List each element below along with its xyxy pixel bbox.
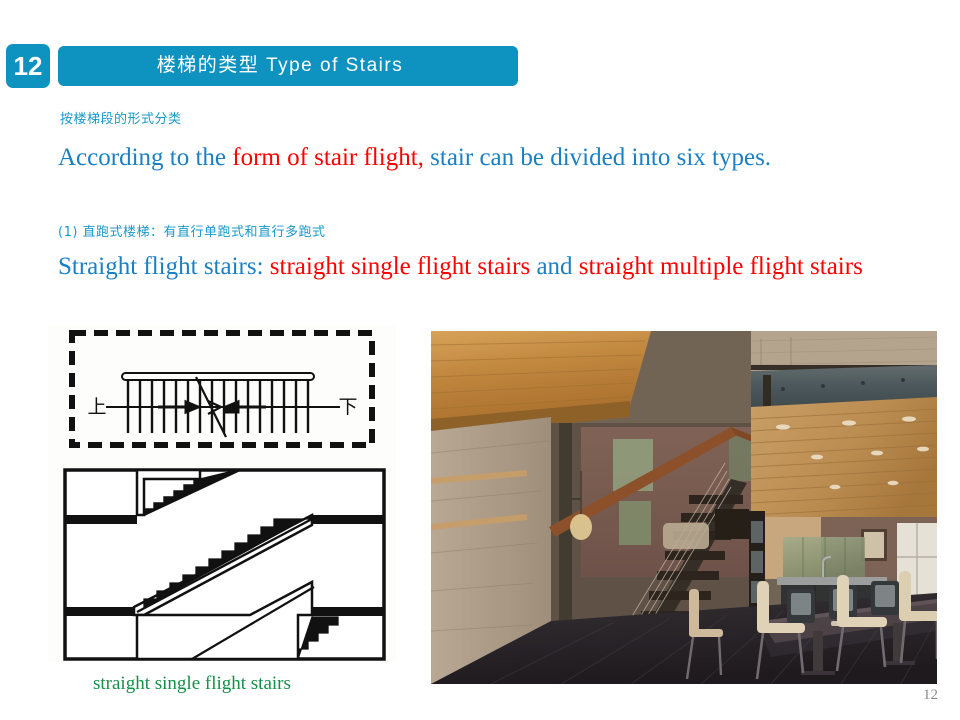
slide-title-bar: 楼梯的类型 Type of Stairs — [58, 46, 518, 86]
plan-label-down: 下 — [338, 396, 357, 418]
item-1-term: Straight flight stairs: — [58, 253, 264, 280]
page-number: 12 — [923, 687, 938, 704]
chapter-number-badge: 12 — [6, 44, 50, 88]
interior-stair-photo — [431, 331, 937, 684]
intro-highlight: form of stair flight, — [232, 144, 424, 171]
item-1-english: Straight flight stairs: straight single … — [58, 250, 930, 283]
photo-content — [431, 331, 937, 684]
intro-part-3: stair can be divided into six types. — [424, 144, 771, 171]
intro-part-1: According to the — [58, 144, 232, 171]
page-title: 楼梯的类型 Type of Stairs — [58, 46, 502, 86]
item-1-chinese: (1) 直跑式楼梯：有直行单跑式和直行多跑式 — [58, 221, 326, 240]
stair-plan-view: 上 下 — [48, 325, 396, 453]
plan-label-up: 上 — [87, 396, 106, 418]
item-1-conjunction: and — [530, 253, 572, 280]
stair-section-view — [62, 467, 387, 662]
intro-paragraph: According to the form of stair flight, s… — [44, 141, 934, 174]
stair-technical-drawing: 上 下 — [48, 325, 396, 662]
item-1-type-b: straight multiple flight stairs — [573, 253, 863, 280]
slide-header: 12 楼梯的类型 Type of Stairs — [0, 44, 960, 88]
item-1-type-a: straight single flight stairs — [264, 253, 531, 280]
drawing-caption: straight single flight stairs — [93, 673, 291, 695]
handrail — [122, 373, 314, 380]
subtitle-chinese: 按楼梯段的形式分类 — [60, 108, 182, 127]
